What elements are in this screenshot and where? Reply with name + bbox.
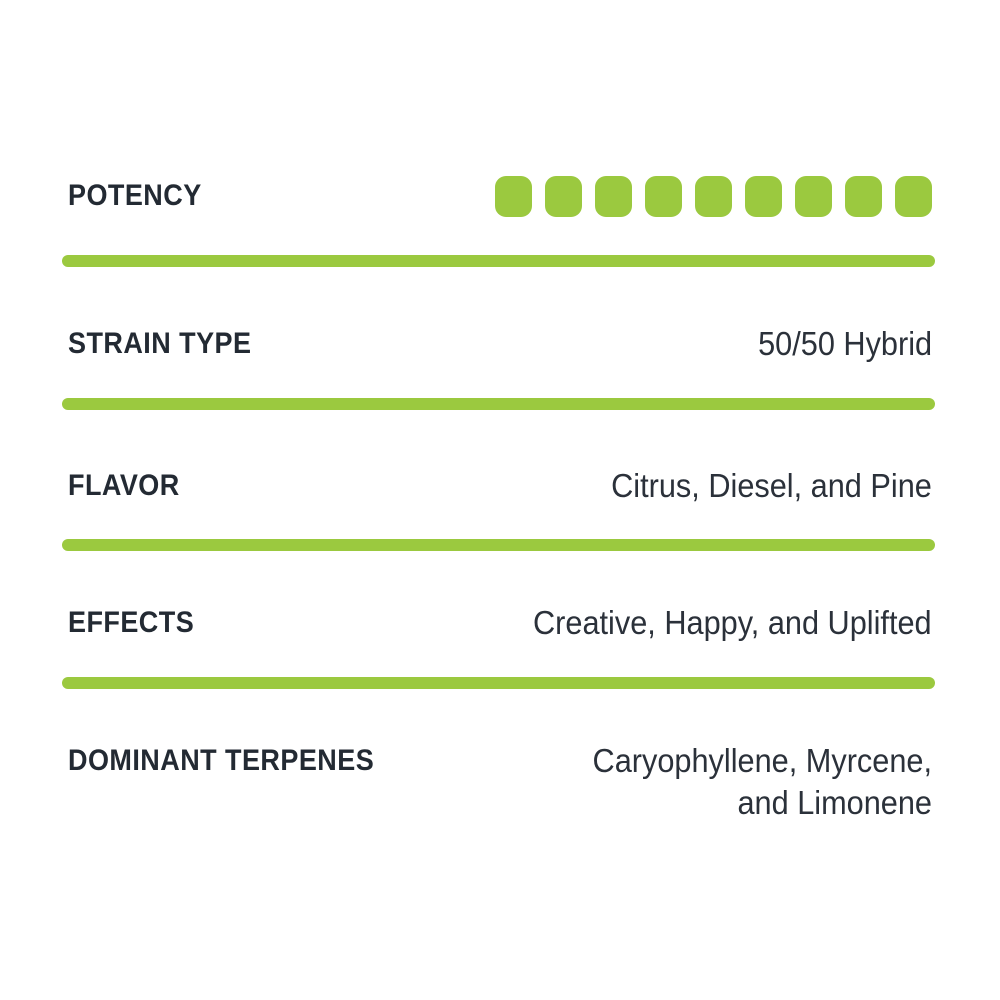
strain-spec-card: POTENCY STRAIN TYPE 50/50 Hybrid FLAVOR bbox=[0, 0, 1000, 1000]
potency-pip bbox=[795, 176, 832, 217]
spec-label-flavor: FLAVOR bbox=[68, 471, 180, 501]
row-divider bbox=[62, 539, 935, 551]
spec-row-strain-type: STRAIN TYPE 50/50 Hybrid bbox=[68, 320, 932, 368]
spec-row-flavor: FLAVOR Citrus, Diesel, and Pine bbox=[68, 462, 932, 510]
potency-pip bbox=[745, 176, 782, 217]
spec-value-strain-type: 50/50 Hybrid bbox=[758, 323, 932, 365]
row-divider bbox=[62, 255, 935, 267]
potency-pip bbox=[645, 176, 682, 217]
potency-pip bbox=[695, 176, 732, 217]
spec-label-strain-type: STRAIN TYPE bbox=[68, 329, 251, 359]
spec-value-dominant-terpenes: Caryophyllene, Myrcene, and Limonene bbox=[593, 740, 932, 824]
potency-pip bbox=[545, 176, 582, 217]
row-divider bbox=[62, 677, 935, 689]
spec-row-dominant-terpenes: DOMINANT TERPENES Caryophyllene, Myrcene… bbox=[68, 740, 932, 828]
spec-label-effects: EFFECTS bbox=[68, 608, 194, 638]
spec-label-potency: POTENCY bbox=[68, 181, 202, 211]
row-divider bbox=[62, 398, 935, 410]
spec-value-flavor: Citrus, Diesel, and Pine bbox=[611, 465, 932, 507]
potency-pip bbox=[895, 176, 932, 217]
potency-pip bbox=[595, 176, 632, 217]
potency-pip bbox=[495, 176, 532, 217]
spec-row-effects: EFFECTS Creative, Happy, and Uplifted bbox=[68, 599, 932, 647]
potency-pip bbox=[845, 176, 882, 217]
spec-value-effects: Creative, Happy, and Uplifted bbox=[533, 602, 932, 644]
spec-label-dominant-terpenes: DOMINANT TERPENES bbox=[68, 746, 374, 776]
potency-meter bbox=[495, 176, 932, 217]
spec-row-potency: POTENCY bbox=[68, 172, 932, 220]
